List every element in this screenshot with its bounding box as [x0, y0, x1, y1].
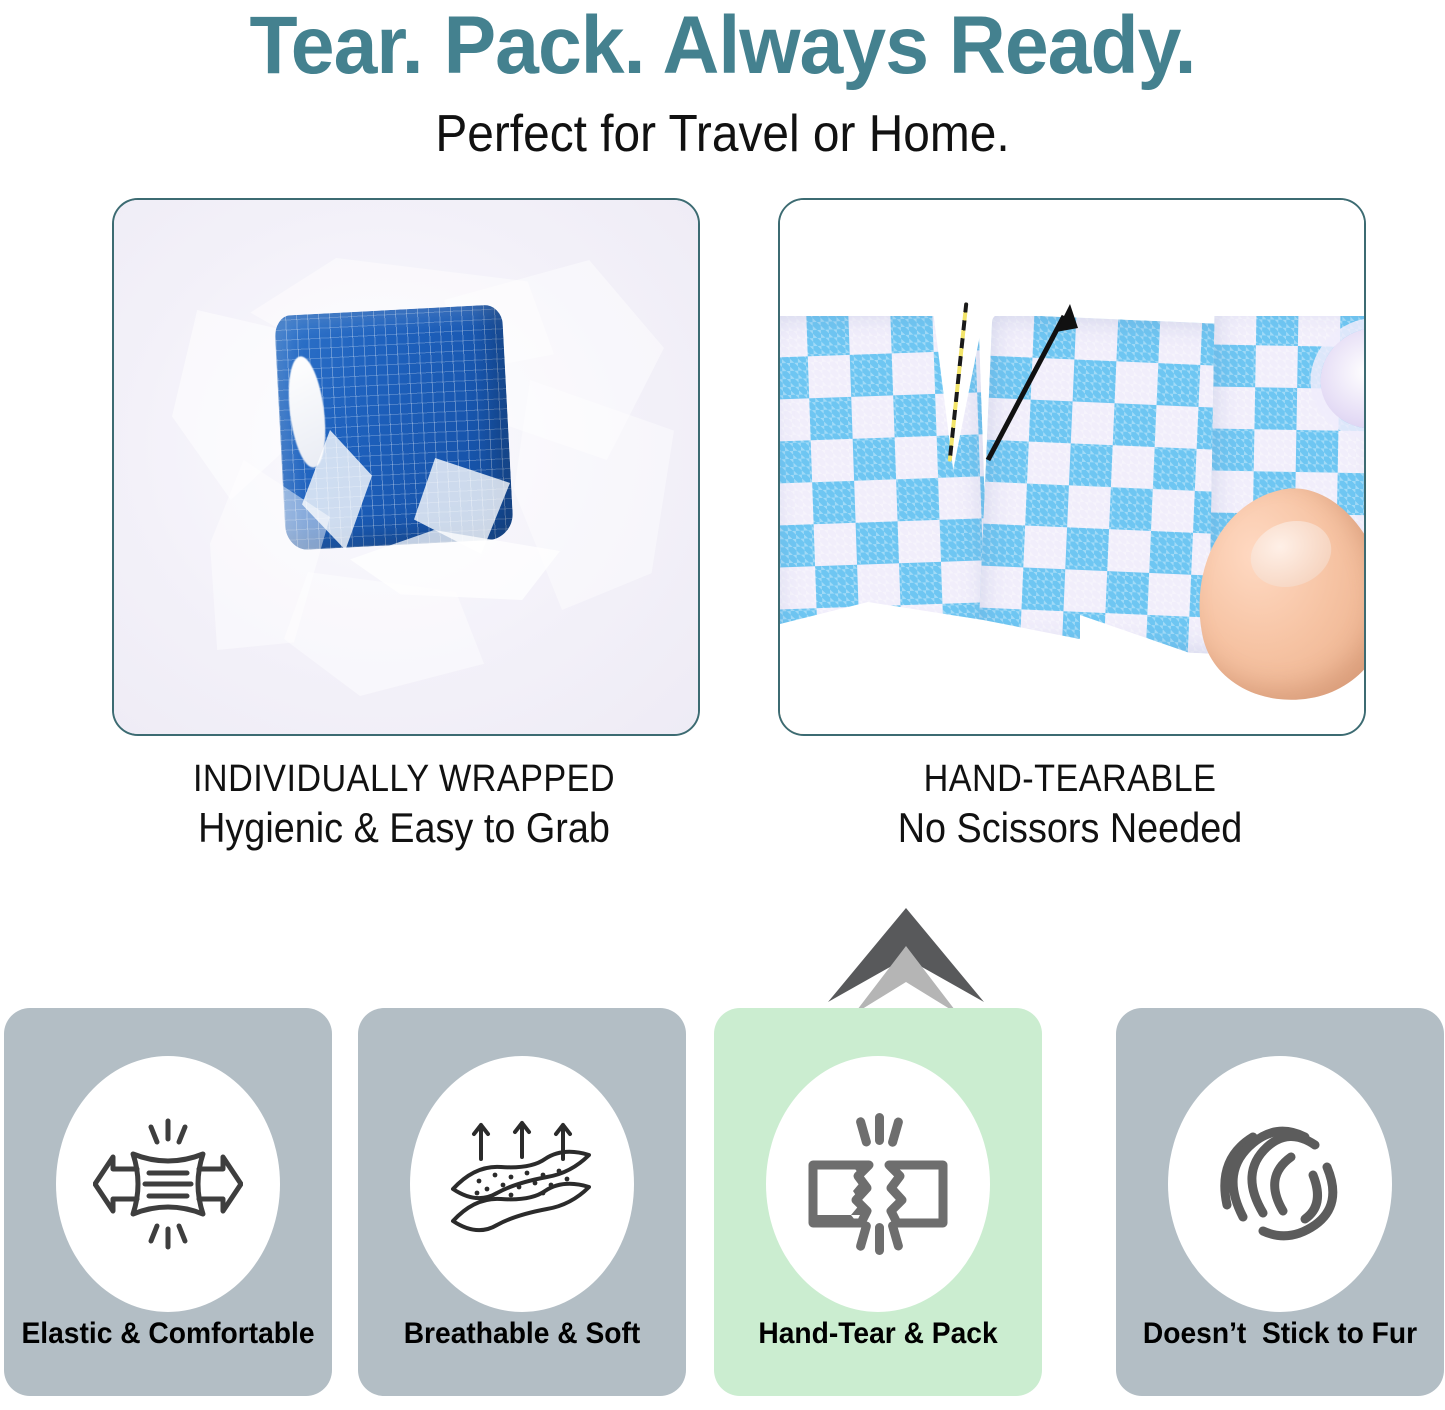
caption-individually-wrapped: INDIVIDUALLY WRAPPED Hygienic & Easy to …	[141, 756, 667, 854]
feature-card-label: Elastic & Comfortable	[14, 1316, 322, 1352]
feature-card-breathable-soft[interactable]: Breathable & Soft	[358, 1008, 686, 1396]
breathable-fabric-icon	[447, 1109, 597, 1259]
caption-subtitle: Hygienic & Easy to Grab	[141, 802, 667, 854]
feature-card-elastic-comfortable[interactable]: Elastic & Comfortable	[4, 1008, 332, 1396]
double-chevron-up-pointer	[826, 906, 986, 1016]
page-headline: Tear. Pack. Always Ready.	[29, 2, 1416, 90]
feature-card-label: Doesn’t Stick to Fur	[1126, 1316, 1434, 1352]
tear-direction-arrow	[960, 298, 1090, 468]
torn-tape-icon	[803, 1109, 953, 1259]
photo-panel-individually-wrapped	[112, 198, 700, 736]
page-subheadline: Perfect for Travel or Home.	[58, 104, 1387, 164]
feature-card-label: Hand-Tear & Pack	[724, 1316, 1032, 1352]
photo-panel-hand-tearable	[778, 198, 1366, 736]
icon-badge	[1168, 1056, 1392, 1312]
caption-title: INDIVIDUALLY WRAPPED	[141, 756, 667, 802]
caption-subtitle: No Scissors Needed	[807, 802, 1333, 854]
caption-hand-tearable: HAND-TEARABLE No Scissors Needed	[807, 756, 1333, 854]
feature-card-hand-tear-pack[interactable]: Hand-Tear & Pack	[714, 1008, 1042, 1396]
caption-title: HAND-TEARABLE	[807, 756, 1333, 802]
icon-badge	[410, 1056, 634, 1312]
feature-card-doesnt-stick-to-fur[interactable]: Doesn’t Stick to Fur	[1116, 1008, 1444, 1396]
icon-badge	[766, 1056, 990, 1312]
fur-swirl-icon	[1205, 1109, 1355, 1259]
stretch-arrows-icon	[93, 1109, 243, 1259]
icon-badge	[56, 1056, 280, 1312]
feature-card-label: Breathable & Soft	[368, 1316, 676, 1352]
